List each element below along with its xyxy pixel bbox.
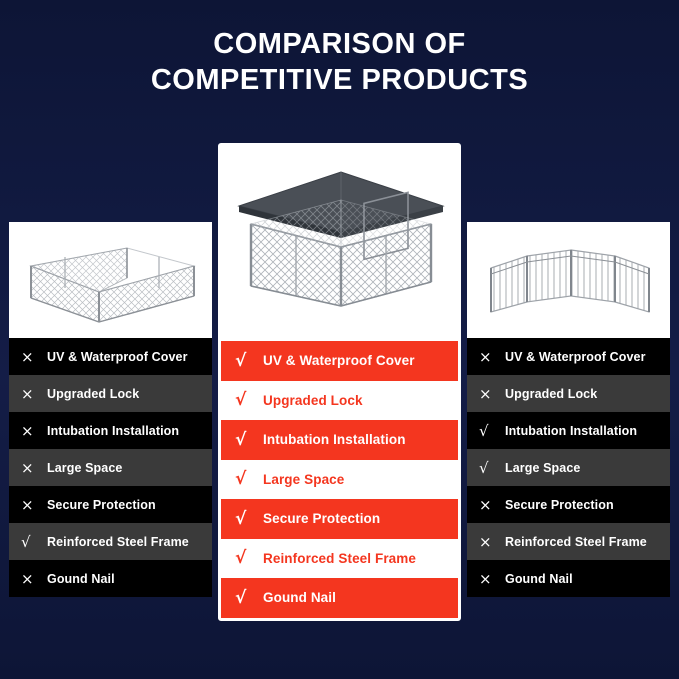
feature-row: × Gound Nail <box>9 560 212 597</box>
feature-row: √ UV & Waterproof Cover <box>221 341 458 381</box>
feature-row: × Upgraded Lock <box>9 375 212 412</box>
comparison-infographic: COMPARISON OF COMPETITIVE PRODUCTS <box>0 0 679 679</box>
competitor-left-column: × UV & Waterproof Cover × Upgraded Lock … <box>9 222 212 597</box>
title-line-2: COMPETITIVE PRODUCTS <box>0 62 679 98</box>
feature-row: √ Intubation Installation <box>221 420 458 460</box>
status-mark: × <box>479 533 505 551</box>
feature-label: Secure Protection <box>47 498 156 512</box>
feature-label: Intubation Installation <box>505 424 637 438</box>
feature-rows-right: × UV & Waterproof Cover × Upgraded Lock … <box>467 338 670 597</box>
status-mark: √ <box>235 430 263 450</box>
feature-label: UV & Waterproof Cover <box>47 350 188 364</box>
feature-row: × UV & Waterproof Cover <box>467 338 670 375</box>
feature-row: √ Upgraded Lock <box>221 381 458 421</box>
feature-row: × Gound Nail <box>467 560 670 597</box>
feature-rows-left: × UV & Waterproof Cover × Upgraded Lock … <box>9 338 212 597</box>
status-mark: × <box>479 348 505 366</box>
chain-link-kennel-no-roof-icon <box>9 222 212 338</box>
competitor-right-column: × UV & Waterproof Cover × Upgraded Lock … <box>467 222 670 597</box>
feature-label: Secure Protection <box>505 498 614 512</box>
feature-label: Reinforced Steel Frame <box>263 551 416 566</box>
feature-label: Upgraded Lock <box>47 387 139 401</box>
chain-link-kennel-with-roof-icon <box>221 146 458 341</box>
status-mark: √ <box>235 469 263 489</box>
feature-row: √ Gound Nail <box>221 578 458 618</box>
feature-row: × Secure Protection <box>9 486 212 523</box>
status-mark: × <box>479 385 505 403</box>
feature-row: × Reinforced Steel Frame <box>467 523 670 560</box>
status-mark: × <box>479 496 505 514</box>
feature-row: √ Large Space <box>467 449 670 486</box>
feature-row: × Upgraded Lock <box>467 375 670 412</box>
status-mark: × <box>21 459 47 477</box>
status-mark: √ <box>235 509 263 529</box>
feature-label: Secure Protection <box>263 511 380 526</box>
feature-label: UV & Waterproof Cover <box>505 350 646 364</box>
feature-label: Intubation Installation <box>263 432 406 447</box>
status-mark: √ <box>479 459 505 477</box>
status-mark: × <box>21 496 47 514</box>
feature-label: Reinforced Steel Frame <box>47 535 189 549</box>
status-mark: √ <box>235 548 263 568</box>
status-mark: × <box>21 422 47 440</box>
feature-label: Large Space <box>263 472 344 487</box>
feature-label: Gound Nail <box>505 572 573 586</box>
featured-product-column: √ UV & Waterproof Cover √ Upgraded Lock … <box>218 143 461 621</box>
feature-row: × UV & Waterproof Cover <box>9 338 212 375</box>
title-line-1: COMPARISON OF <box>0 26 679 62</box>
page-title: COMPARISON OF COMPETITIVE PRODUCTS <box>0 26 679 98</box>
feature-row: √ Large Space <box>221 460 458 500</box>
status-mark: √ <box>21 533 47 551</box>
feature-row: × Intubation Installation <box>9 412 212 449</box>
status-mark: × <box>21 570 47 588</box>
feature-row: √ Intubation Installation <box>467 412 670 449</box>
feature-label: UV & Waterproof Cover <box>263 353 415 368</box>
status-mark: √ <box>479 422 505 440</box>
product-image-right <box>467 222 670 338</box>
status-mark: × <box>479 570 505 588</box>
feature-label: Upgraded Lock <box>263 393 363 408</box>
feature-row: × Large Space <box>9 449 212 486</box>
metal-playpen-panels-icon <box>467 222 670 338</box>
status-mark: × <box>21 385 47 403</box>
feature-row: √ Secure Protection <box>221 499 458 539</box>
product-image-left <box>9 222 212 338</box>
feature-label: Large Space <box>505 461 580 475</box>
status-mark: √ <box>235 588 263 608</box>
feature-rows-center: √ UV & Waterproof Cover √ Upgraded Lock … <box>221 341 458 618</box>
feature-label: Gound Nail <box>47 572 115 586</box>
feature-label: Reinforced Steel Frame <box>505 535 647 549</box>
status-mark: × <box>21 348 47 366</box>
feature-row: √ Reinforced Steel Frame <box>9 523 212 560</box>
status-mark: √ <box>235 390 263 410</box>
feature-label: Intubation Installation <box>47 424 179 438</box>
feature-row: × Secure Protection <box>467 486 670 523</box>
feature-label: Upgraded Lock <box>505 387 597 401</box>
product-image-center <box>221 146 458 341</box>
feature-row: √ Reinforced Steel Frame <box>221 539 458 579</box>
status-mark: √ <box>235 351 263 371</box>
feature-label: Gound Nail <box>263 590 336 605</box>
feature-label: Large Space <box>47 461 122 475</box>
